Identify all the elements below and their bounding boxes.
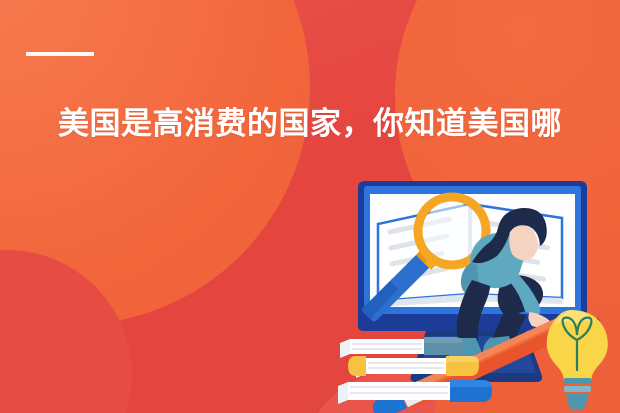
accent-rule <box>26 52 94 56</box>
page-title: 美国是高消费的国家，你知道美国哪 <box>58 104 603 144</box>
banner-canvas: 美国是高消费的国家，你知道美国哪 <box>0 0 620 413</box>
lightbulb-icon <box>547 310 608 410</box>
study-research-illustration <box>330 168 620 413</box>
